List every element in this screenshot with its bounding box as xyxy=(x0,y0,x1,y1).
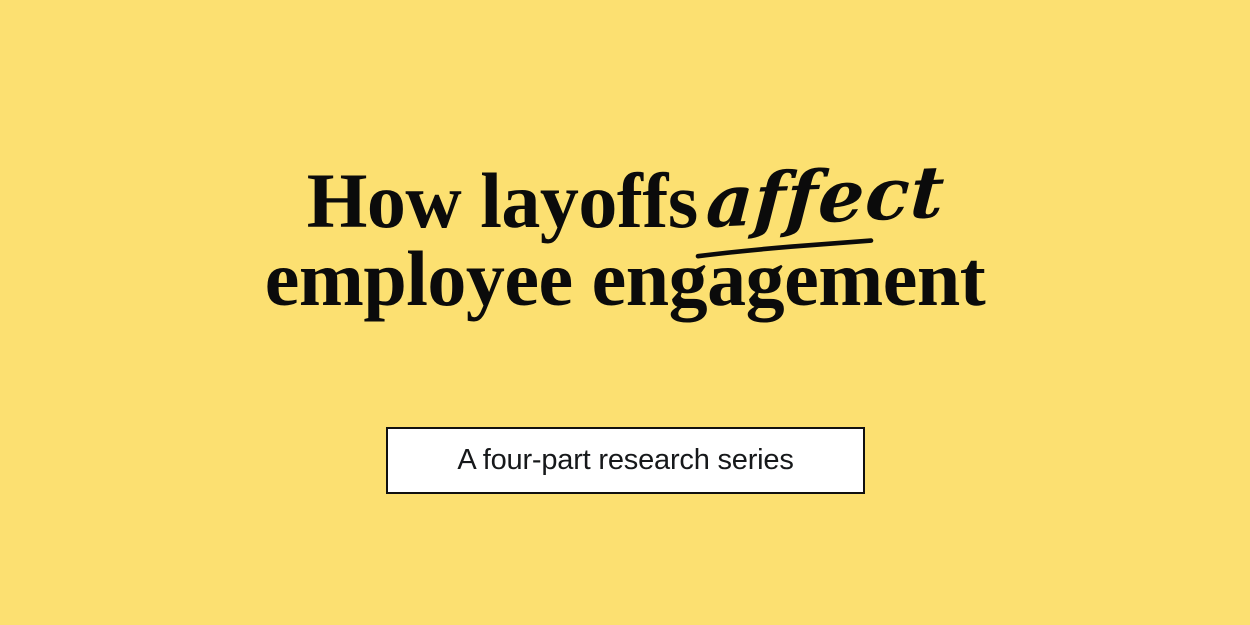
promo-hero-banner: How layoffsaffect employee engagement A … xyxy=(0,0,1250,625)
title-line-two: employee engagement xyxy=(0,238,1250,320)
page-title: How layoffsaffect employee engagement xyxy=(0,160,1250,320)
script-word-affect: affect xyxy=(698,160,944,243)
subtitle-badge: A four-part research series xyxy=(386,427,865,494)
title-line-one: How layoffsaffect xyxy=(0,160,1250,242)
title-line-one-text: How layoffs xyxy=(307,157,698,244)
script-word-affect-text: affect xyxy=(704,151,947,243)
subtitle-badge-label: A four-part research series xyxy=(457,446,793,475)
